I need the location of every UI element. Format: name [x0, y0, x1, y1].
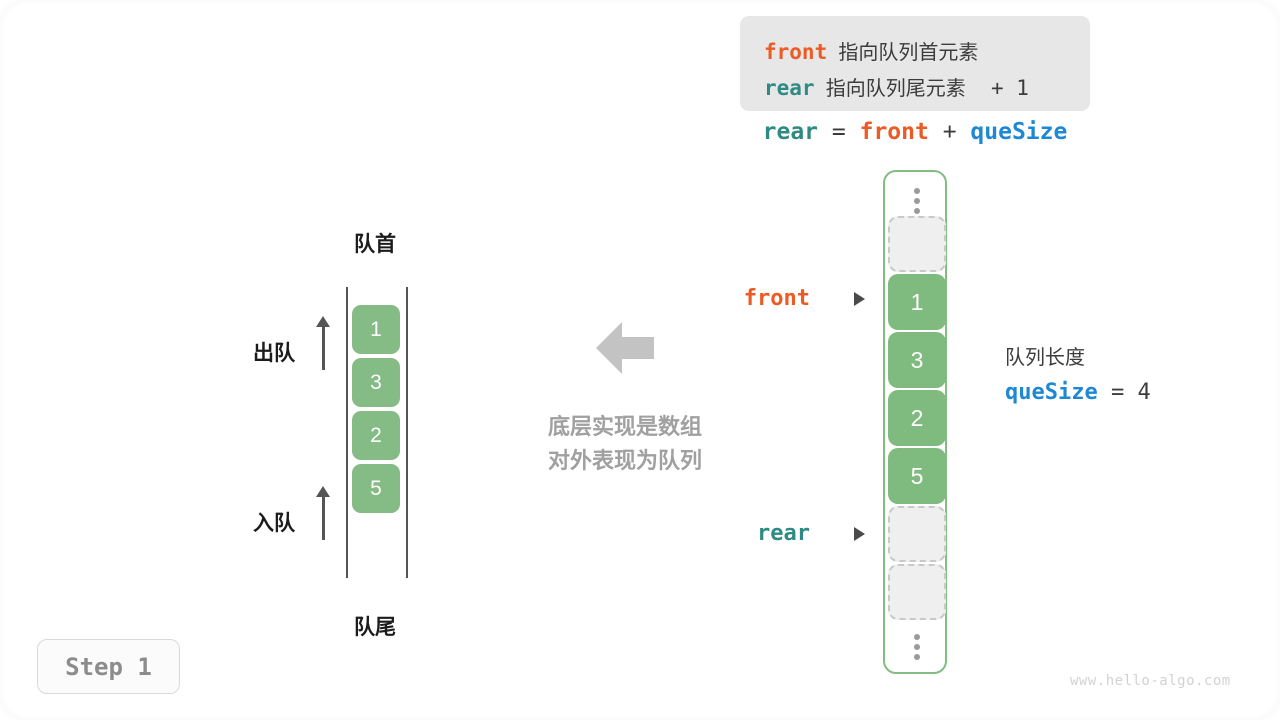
front-legend-text: 指向队列首元素 — [838, 42, 978, 64]
array-cell-1[interactable]: 1 — [888, 274, 946, 330]
queue-cell-0[interactable]: 1 — [352, 305, 400, 354]
enqueue-label: 入队 — [253, 507, 295, 537]
array-cell-6[interactable] — [888, 564, 946, 620]
queue-head-label: 队首 — [300, 228, 450, 258]
dequeue-arrow-shaft — [322, 326, 325, 370]
dequeue-label: 出队 — [253, 337, 295, 367]
queue-rail-right — [406, 287, 408, 578]
array-cell-1-value: 1 — [911, 289, 924, 316]
legend-line-front: front 指向队列首元素 — [764, 36, 978, 65]
quesize-name: queSize — [1005, 380, 1098, 405]
array-top-ellipsis-icon — [885, 184, 949, 214]
queue-cell-2-value: 2 — [370, 424, 382, 448]
quesize-value: 4 — [1137, 380, 1150, 405]
center-caption-line1: 底层实现是数组 — [500, 410, 750, 444]
queue-cell-3-value: 5 — [370, 477, 382, 501]
rear-legend-suffix: + 1 — [991, 76, 1029, 100]
formula-equals: = — [832, 119, 846, 145]
array-cell-3-value: 2 — [911, 405, 924, 432]
rear-legend-text: 指向队列尾元素 — [826, 78, 966, 100]
front-keyword: front — [764, 40, 827, 64]
array-cell-3[interactable]: 2 — [888, 390, 946, 446]
watermark: www.hello-algo.com — [1070, 673, 1231, 689]
center-caption-line2: 对外表现为队列 — [500, 444, 750, 478]
queue-cell-2[interactable]: 2 — [352, 411, 400, 460]
step-badge: Step 1 — [37, 639, 180, 694]
quesize-note: 队列长度 queSize = 4 — [1005, 341, 1151, 405]
queue-tail-label: 队尾 — [300, 611, 450, 641]
array-cell-2-value: 3 — [911, 347, 924, 374]
array-cell-5[interactable] — [888, 506, 946, 562]
center-caption: 底层实现是数组 对外表现为队列 — [500, 410, 750, 478]
formula-quesize: queSize — [970, 119, 1067, 145]
pointer-legend-box: front 指向队列首元素 rear 指向队列尾元素 + 1 — [740, 16, 1090, 111]
quesize-equals: = — [1111, 380, 1124, 405]
quesize-note-title: 队列长度 — [1005, 341, 1151, 370]
diagram-canvas: front 指向队列首元素 rear 指向队列尾元素 + 1 rear = fr… — [0, 0, 1280, 720]
array-cell-2[interactable]: 3 — [888, 332, 946, 388]
array-cell-0[interactable] — [888, 216, 946, 272]
rear-pointer-arrow-icon — [854, 527, 865, 541]
rear-formula: rear = front + queSize — [740, 119, 1090, 145]
left-arrow-icon — [596, 320, 654, 376]
queue-cell-1[interactable]: 3 — [352, 358, 400, 407]
formula-front: front — [860, 119, 929, 145]
queue-cell-1-value: 3 — [370, 371, 382, 395]
array-cell-4[interactable]: 5 — [888, 448, 946, 504]
front-pointer-arrow-icon — [854, 292, 865, 306]
rear-pointer-label: rear — [700, 521, 810, 546]
formula-plus: + — [943, 119, 957, 145]
front-pointer-label: front — [700, 286, 810, 311]
enqueue-arrow-shaft — [322, 496, 325, 540]
queue-cell-3[interactable]: 5 — [352, 464, 400, 513]
dequeue-arrow-head-icon — [316, 316, 330, 327]
array-cell-4-value: 5 — [911, 463, 924, 490]
queue-cell-0-value: 1 — [370, 318, 382, 342]
quesize-note-value-line: queSize = 4 — [1005, 380, 1151, 405]
rear-keyword: rear — [764, 76, 815, 100]
formula-rear: rear — [763, 119, 818, 145]
array-container: 1 3 2 5 — [883, 170, 947, 674]
array-bottom-ellipsis-icon — [885, 630, 949, 660]
enqueue-arrow-head-icon — [316, 486, 330, 497]
legend-line-rear: rear 指向队列尾元素 + 1 — [764, 72, 1029, 101]
queue-rail-left — [346, 287, 348, 578]
